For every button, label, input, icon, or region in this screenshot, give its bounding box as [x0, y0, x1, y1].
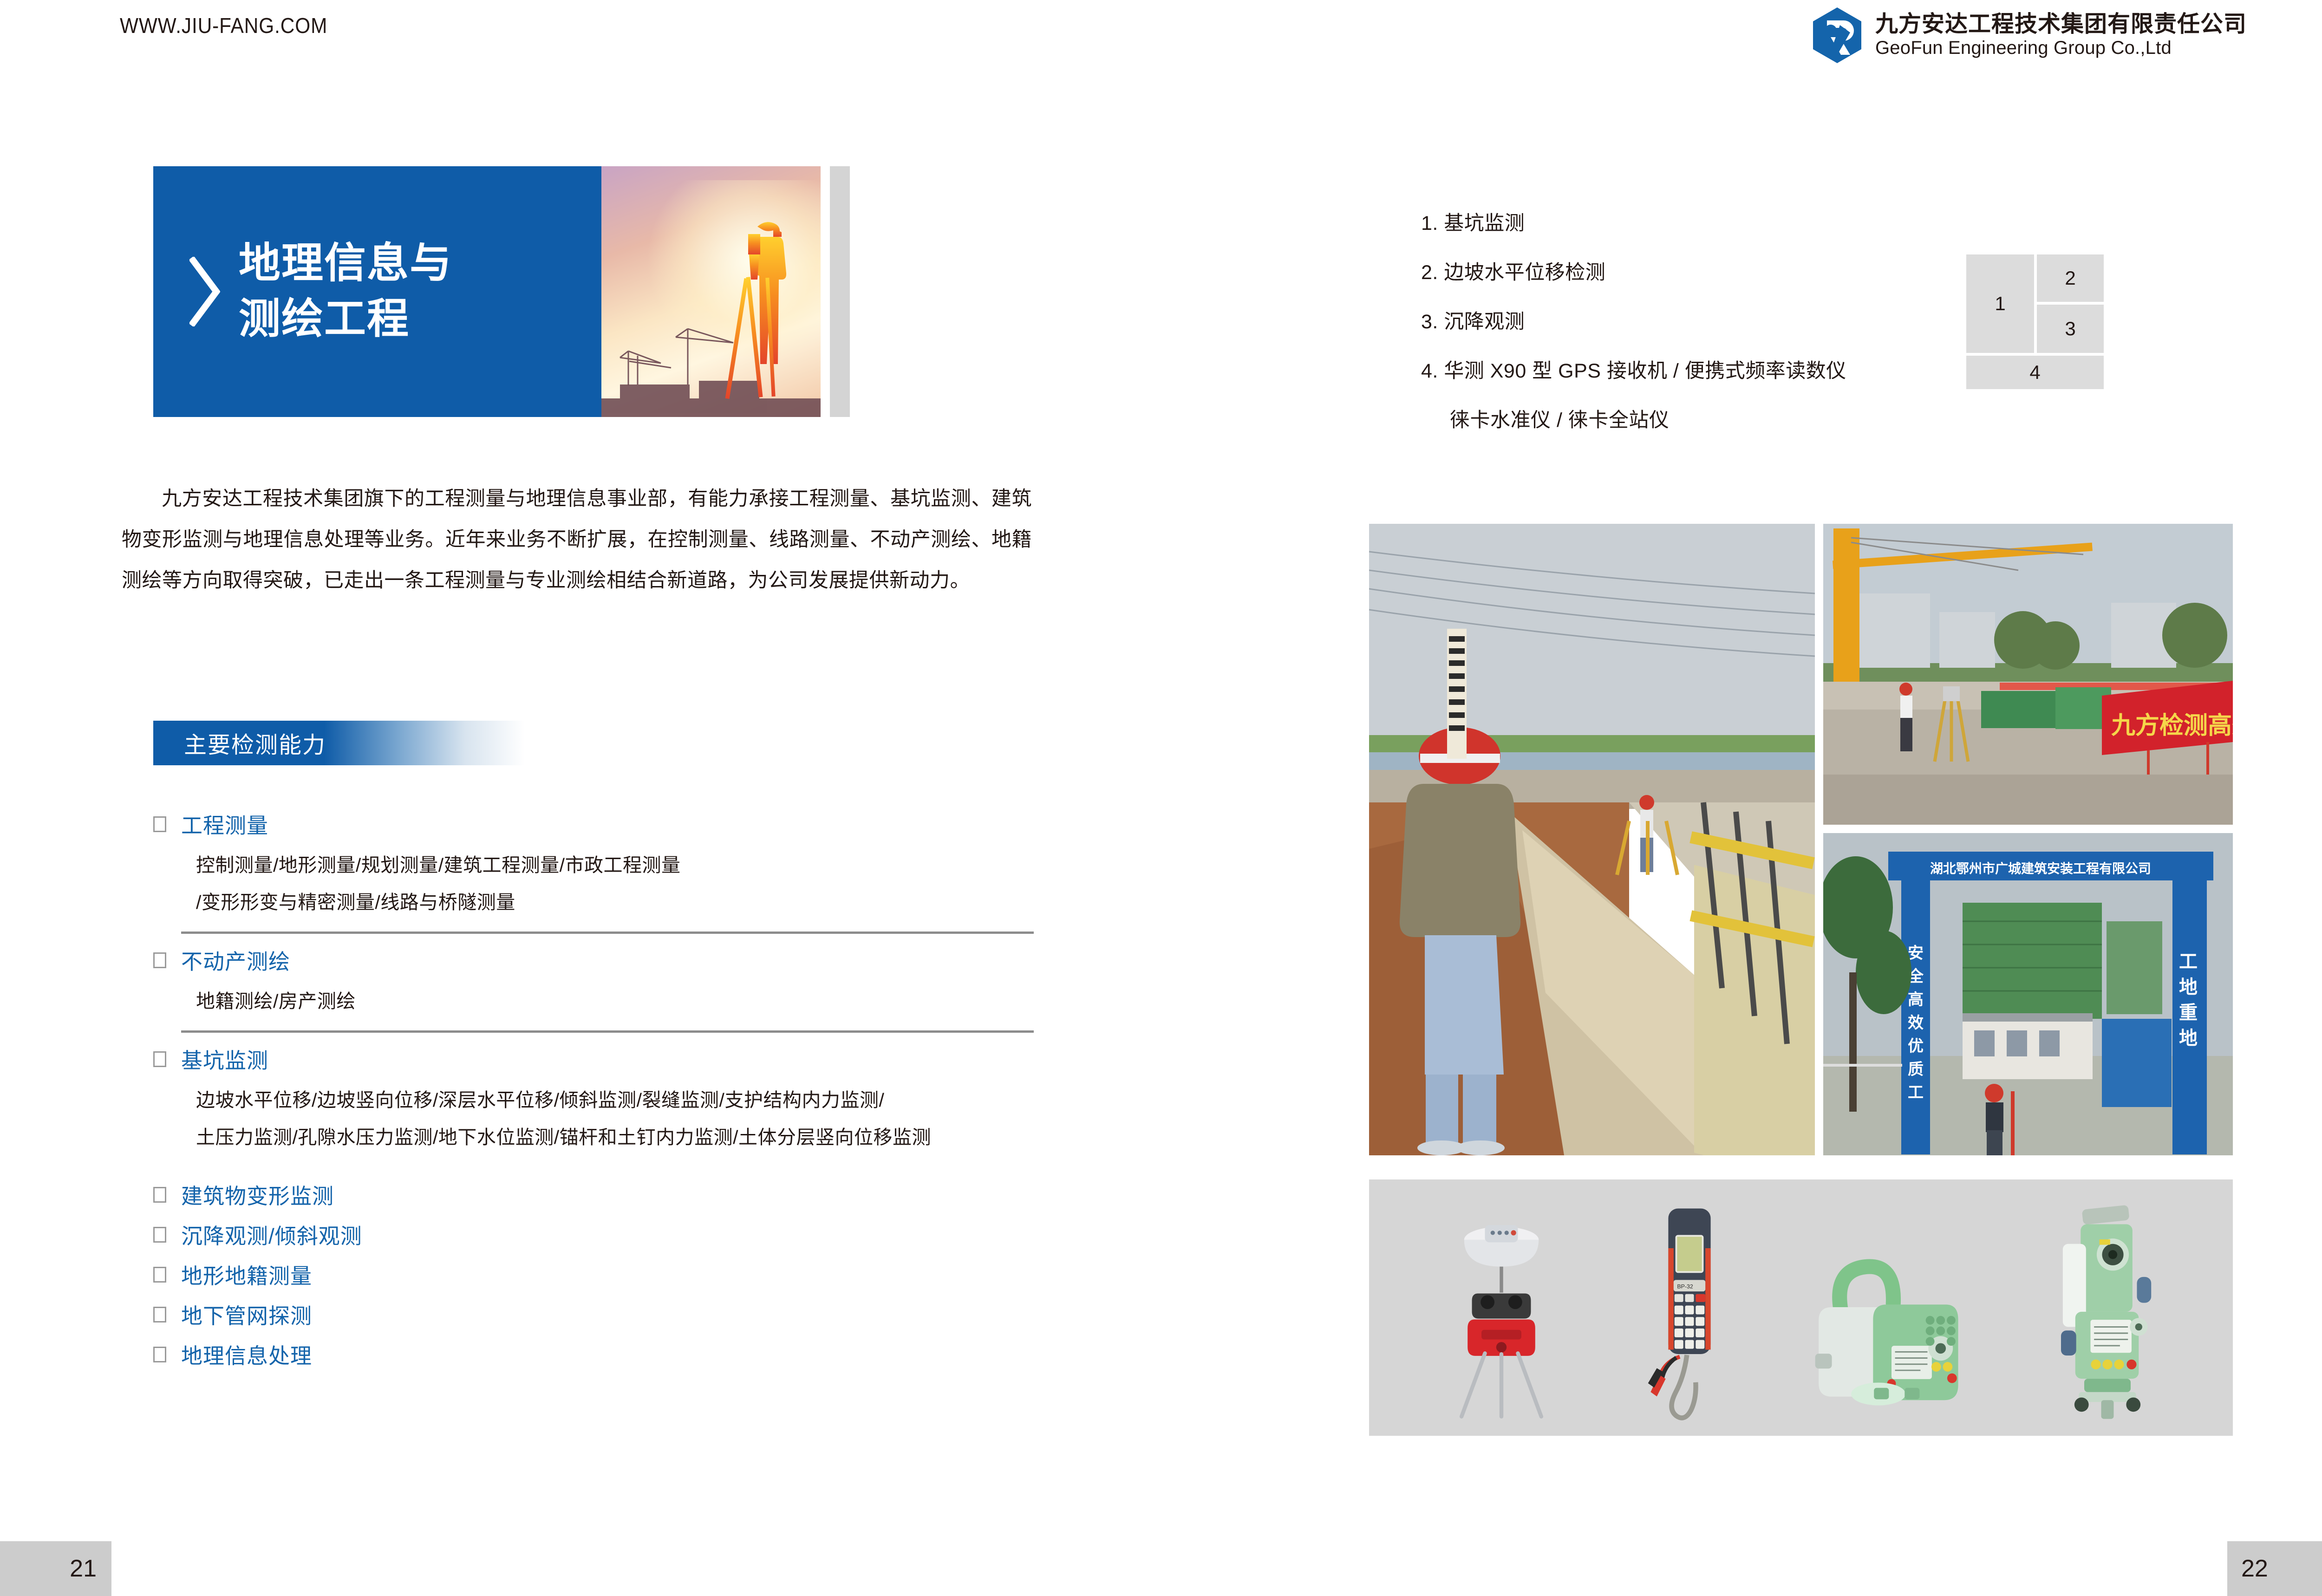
- equipment-frequency-reader: BP-32: [1645, 1196, 1734, 1424]
- photo-caption-continuation: 徕卡水准仪 / 徕卡全站仪: [1421, 410, 1885, 430]
- svg-text:BP-32: BP-32: [1677, 1283, 1693, 1290]
- chevron-right-icon: [189, 257, 220, 326]
- capability-group: 基坑监测 边坡水平位移/边坡竖向位移/深层水平位移/倾斜监测/裂缝监测/支护结构…: [153, 1043, 1036, 1175]
- hero-gap: [821, 166, 830, 417]
- brand-text-block: 九方安达工程技术集团有限责任公司 GeoFun Engineering Grou…: [1875, 12, 2247, 59]
- svg-text:重: 重: [2179, 1003, 2198, 1023]
- divider: [181, 1030, 1034, 1033]
- svg-text:湖北鄂州市广城建筑安装工程有限公司: 湖北鄂州市广城建筑安装工程有限公司: [1930, 861, 2151, 876]
- photo-slope-displacement-monitoring: 九方检测高效: [1823, 524, 2233, 825]
- checkbox-icon[interactable]: [153, 1347, 166, 1362]
- photo-excavation-monitoring: [1369, 524, 1815, 1155]
- capability-item-dixia-guanwang-tance[interactable]: 地下管网探测: [153, 1295, 1036, 1335]
- layout-key-cell-1: 1: [1966, 254, 2034, 353]
- equipment-leica-level: [1813, 1238, 1970, 1424]
- svg-text:工: 工: [2179, 951, 2198, 972]
- checkbox-icon[interactable]: [153, 1051, 166, 1067]
- page-number-right: 22: [2227, 1541, 2322, 1596]
- brand-name-cn: 九方安达工程技术集团有限责任公司: [1875, 12, 2247, 37]
- photo-caption-list: 1. 基坑监测 2. 边坡水平位移检测 3. 沉降观测 4. 华测 X90 型 …: [1421, 214, 1885, 430]
- capability-title: 地形地籍测量: [181, 1259, 312, 1290]
- capability-title: 工程测量: [181, 809, 268, 840]
- capability-title: 建筑物变形监测: [181, 1179, 334, 1210]
- hero-accent-bar: [830, 166, 850, 417]
- page-number-left-value: 21: [70, 1555, 97, 1583]
- equipment-gps-receiver-tripod: [1436, 1196, 1566, 1424]
- section-header-capabilities: 主要检测能力: [153, 721, 525, 765]
- hero-heading: 地理信息与 测绘工程: [239, 236, 452, 347]
- page-number-left: 21: [0, 1541, 111, 1596]
- svg-text:质: 质: [1908, 1061, 1924, 1078]
- spacer: [153, 1156, 1036, 1175]
- section-header-label: 主要检测能力: [153, 727, 326, 760]
- capability-subtext-line: 地籍测绘/房产测绘: [196, 983, 1036, 1020]
- capability-subtext: 地籍测绘/房产测绘: [153, 983, 1036, 1020]
- checkbox-icon[interactable]: [153, 1227, 166, 1243]
- checkbox-icon[interactable]: [153, 1267, 166, 1283]
- layout-key-cell-3: 3: [2037, 305, 2104, 353]
- photo-caption: 1. 基坑监测: [1421, 214, 1885, 234]
- photo-settlement-observation: 湖北鄂州市广城建筑安装工程有限公司 安全高 效优质工 工地重 地: [1823, 833, 2233, 1155]
- hero-photo-surveyor-sunset: [601, 166, 821, 417]
- photo-gallery: 九方检测高效: [1369, 524, 2233, 1155]
- capability-subtext-line: 边坡水平位移/边坡竖向位移/深层水平位移/倾斜监测/裂缝监测/支护结构内力监测/: [196, 1082, 1036, 1119]
- capability-subtext-line: /变形形变与精密测量/线路与桥隧测量: [196, 884, 1036, 921]
- hero-title-panel: 地理信息与 测绘工程: [153, 166, 601, 417]
- company-logo: 九方安达工程技术集团有限责任公司 GeoFun Engineering Grou…: [1811, 7, 2247, 64]
- capability-title: 地理信息处理: [181, 1339, 312, 1370]
- photo-caption: 2. 边坡水平位移检测: [1421, 263, 1885, 283]
- capability-item-budongchan-cehui[interactable]: 不动产测绘: [153, 944, 1036, 977]
- capability-item-dili-xinxi-chuli[interactable]: 地理信息处理: [153, 1335, 1036, 1375]
- capability-item-jikeng-jiance[interactable]: 基坑监测: [153, 1043, 1036, 1075]
- capability-group: 不动产测绘 地籍测绘/房产测绘: [153, 944, 1036, 1033]
- divider: [181, 932, 1034, 934]
- capability-title: 基坑监测: [181, 1044, 268, 1075]
- hero-heading-line1: 地理信息与: [239, 236, 452, 292]
- intro-paragraph: 九方安达工程技术集团旗下的工程测量与地理信息事业部，有能力承接工程测量、基坑监测…: [122, 478, 1032, 601]
- capability-title: 不动产测绘: [181, 945, 290, 976]
- svg-text:效: 效: [1908, 1014, 1924, 1032]
- capability-item-chenjiang-guance[interactable]: 沉降观测/倾斜观测: [153, 1215, 1036, 1255]
- capability-list: 工程测量 控制测量/地形测量/规划测量/建筑工程测量/市政工程测量 /变形形变与…: [153, 808, 1036, 1375]
- intro-text: 九方安达工程技术集团旗下的工程测量与地理信息事业部，有能力承接工程测量、基坑监测…: [122, 488, 1032, 592]
- equipment-leica-total-station: [2049, 1196, 2165, 1424]
- checkbox-icon[interactable]: [153, 1187, 166, 1203]
- capability-subtext: 边坡水平位移/边坡竖向位移/深层水平位移/倾斜监测/裂缝监测/支护结构内力监测/…: [153, 1082, 1036, 1156]
- svg-text:九方检测高效: 九方检测高效: [2111, 712, 2233, 739]
- capability-title: 沉降观测/倾斜观测: [181, 1219, 362, 1250]
- svg-text:安: 安: [1908, 945, 1924, 962]
- brochure-spread: WWW.JIU-FANG.COM 九方安达工程技术集团有限责任公司 GeoFun…: [0, 0, 2322, 1596]
- photo-caption: 4. 华测 X90 型 GPS 接收机 / 便携式频率读数仪: [1421, 361, 1885, 381]
- svg-text:工: 工: [1908, 1084, 1924, 1101]
- brand-name-en: GeoFun Engineering Group Co.,Ltd: [1875, 38, 2247, 59]
- photo-layout-key: 1 2 3 4: [1966, 254, 2104, 389]
- capability-subtext-line: 土压力监测/孔隙水压力监测/地下水位监测/锚杆和土钉内力监测/土体分层竖向位移监…: [196, 1119, 1036, 1156]
- svg-text:地: 地: [2179, 977, 2198, 997]
- layout-key-cell-4: 4: [1966, 356, 2104, 389]
- hero-banner: 地理信息与 测绘工程: [153, 166, 850, 417]
- svg-text:优: 优: [1908, 1037, 1924, 1055]
- capability-subtext: 控制测量/地形测量/规划测量/建筑工程测量/市政工程测量 /变形形变与精密测量/…: [153, 847, 1036, 921]
- checkbox-icon[interactable]: [153, 952, 166, 968]
- checkbox-icon[interactable]: [153, 1307, 166, 1322]
- page-number-right-value: 22: [2241, 1555, 2268, 1583]
- capability-subtext-line: 控制测量/地形测量/规划测量/建筑工程测量/市政工程测量: [196, 847, 1036, 884]
- capability-group: 工程测量 控制测量/地形测量/规划测量/建筑工程测量/市政工程测量 /变形形变与…: [153, 808, 1036, 934]
- layout-key-cell-2: 2: [2037, 254, 2104, 302]
- capability-item-dixing-diji-celiang[interactable]: 地形地籍测量: [153, 1255, 1036, 1295]
- geofun-hexagon-icon: [1811, 7, 1863, 64]
- checkbox-icon[interactable]: [153, 816, 166, 832]
- site-url: WWW.JIU-FANG.COM: [120, 13, 327, 38]
- svg-text:地: 地: [2179, 1028, 2198, 1049]
- capability-item-gongcheng-celiang[interactable]: 工程测量: [153, 808, 1036, 840]
- photo-caption: 3. 沉降观测: [1421, 312, 1885, 332]
- equipment-photo-strip: BP-32: [1369, 1179, 2233, 1436]
- svg-text:高: 高: [1908, 991, 1924, 1009]
- hero-heading-line2: 测绘工程: [239, 292, 452, 347]
- capability-item-jianzhuwu-bianxing-jiance[interactable]: 建筑物变形监测: [153, 1175, 1036, 1215]
- capability-title: 地下管网探测: [181, 1299, 312, 1330]
